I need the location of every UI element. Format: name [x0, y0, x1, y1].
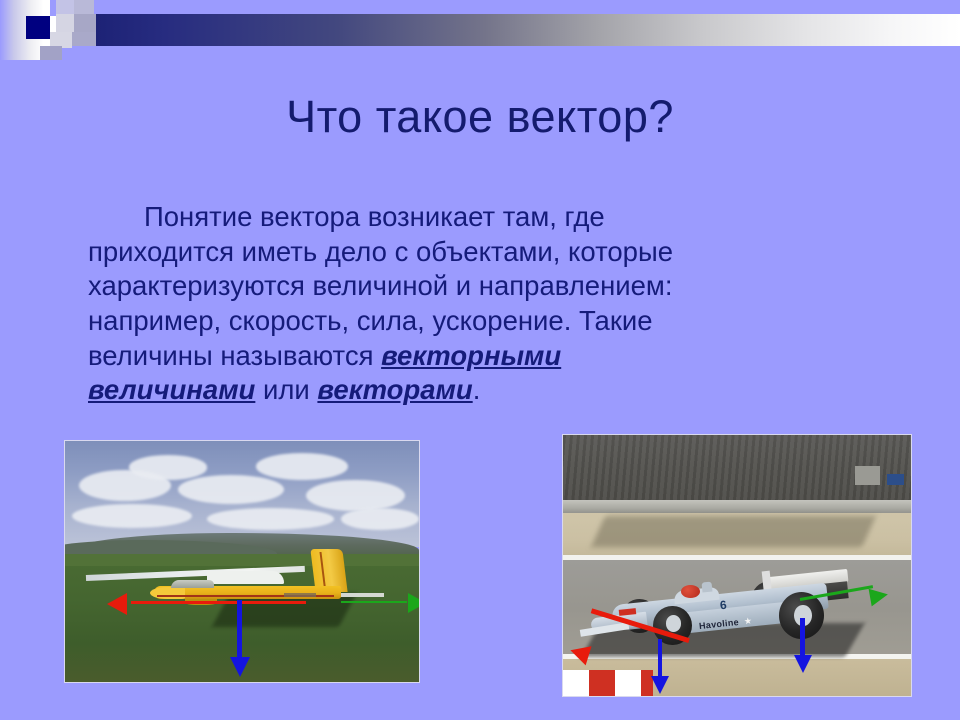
presentation-slide: Что такое вектор? Понятие вектора возник…: [0, 0, 960, 720]
cloud: [129, 455, 207, 479]
glider-canopy: [171, 580, 213, 589]
slide-body-paragraph: Понятие вектора возникает там, где прихо…: [88, 200, 708, 408]
arrow-head: [651, 676, 669, 694]
cloud: [306, 480, 405, 511]
blue-arrow-down: [226, 600, 254, 677]
cloud: [207, 508, 334, 530]
deco-square-g: [40, 46, 62, 60]
arrow-head: [794, 655, 812, 673]
apron-shadow: [591, 516, 876, 547]
arrow-head: [869, 585, 890, 606]
deco-square-a: [56, 0, 74, 14]
body-run-plain-3: .: [473, 374, 481, 405]
cloud: [178, 475, 284, 504]
blue-arrow-down-front: [647, 639, 675, 696]
red-arrow-left: [107, 590, 305, 614]
grass-field-highlight: [65, 554, 419, 566]
slide-header-decoration: [0, 0, 960, 60]
arrow-shaft: [341, 601, 407, 604]
glider-near-wing: [207, 571, 285, 584]
body-run-plain-2: или: [255, 374, 317, 405]
arrow-head: [567, 641, 591, 666]
blue-arrow-down-rear: [789, 618, 817, 675]
body-run-emphasis-2: векторами: [317, 374, 472, 405]
deco-square-c: [56, 14, 74, 32]
deco-square-navy-accent: [26, 16, 50, 39]
red-livery-trim: [618, 608, 636, 616]
arrow-head: [230, 657, 250, 677]
gradient-banner: [96, 14, 960, 46]
livery-star-icon: ★: [743, 616, 752, 628]
arrow-head: [408, 593, 420, 613]
arrow-head: [107, 593, 127, 615]
red-white-kerb: [563, 670, 653, 696]
green-arrow-up-right: [800, 581, 890, 612]
arrow-shaft: [799, 586, 873, 602]
wall-blue-marking: [887, 474, 904, 484]
green-arrow-right: [341, 590, 420, 614]
cloud: [341, 508, 419, 530]
slide-title: Что такое вектор?: [0, 92, 960, 142]
arrow-shaft: [237, 600, 242, 665]
cloud: [256, 453, 348, 480]
cloud: [72, 504, 192, 528]
wall-panel: [855, 466, 879, 484]
racecar-photo: 6 Havoline ★: [562, 434, 912, 697]
deco-square-d: [74, 14, 96, 32]
deco-square-f: [72, 32, 96, 46]
livery-number: 6: [719, 598, 727, 613]
glider-photo: [64, 440, 420, 683]
deco-square-b: [74, 0, 94, 14]
arrow-shaft: [131, 601, 305, 604]
